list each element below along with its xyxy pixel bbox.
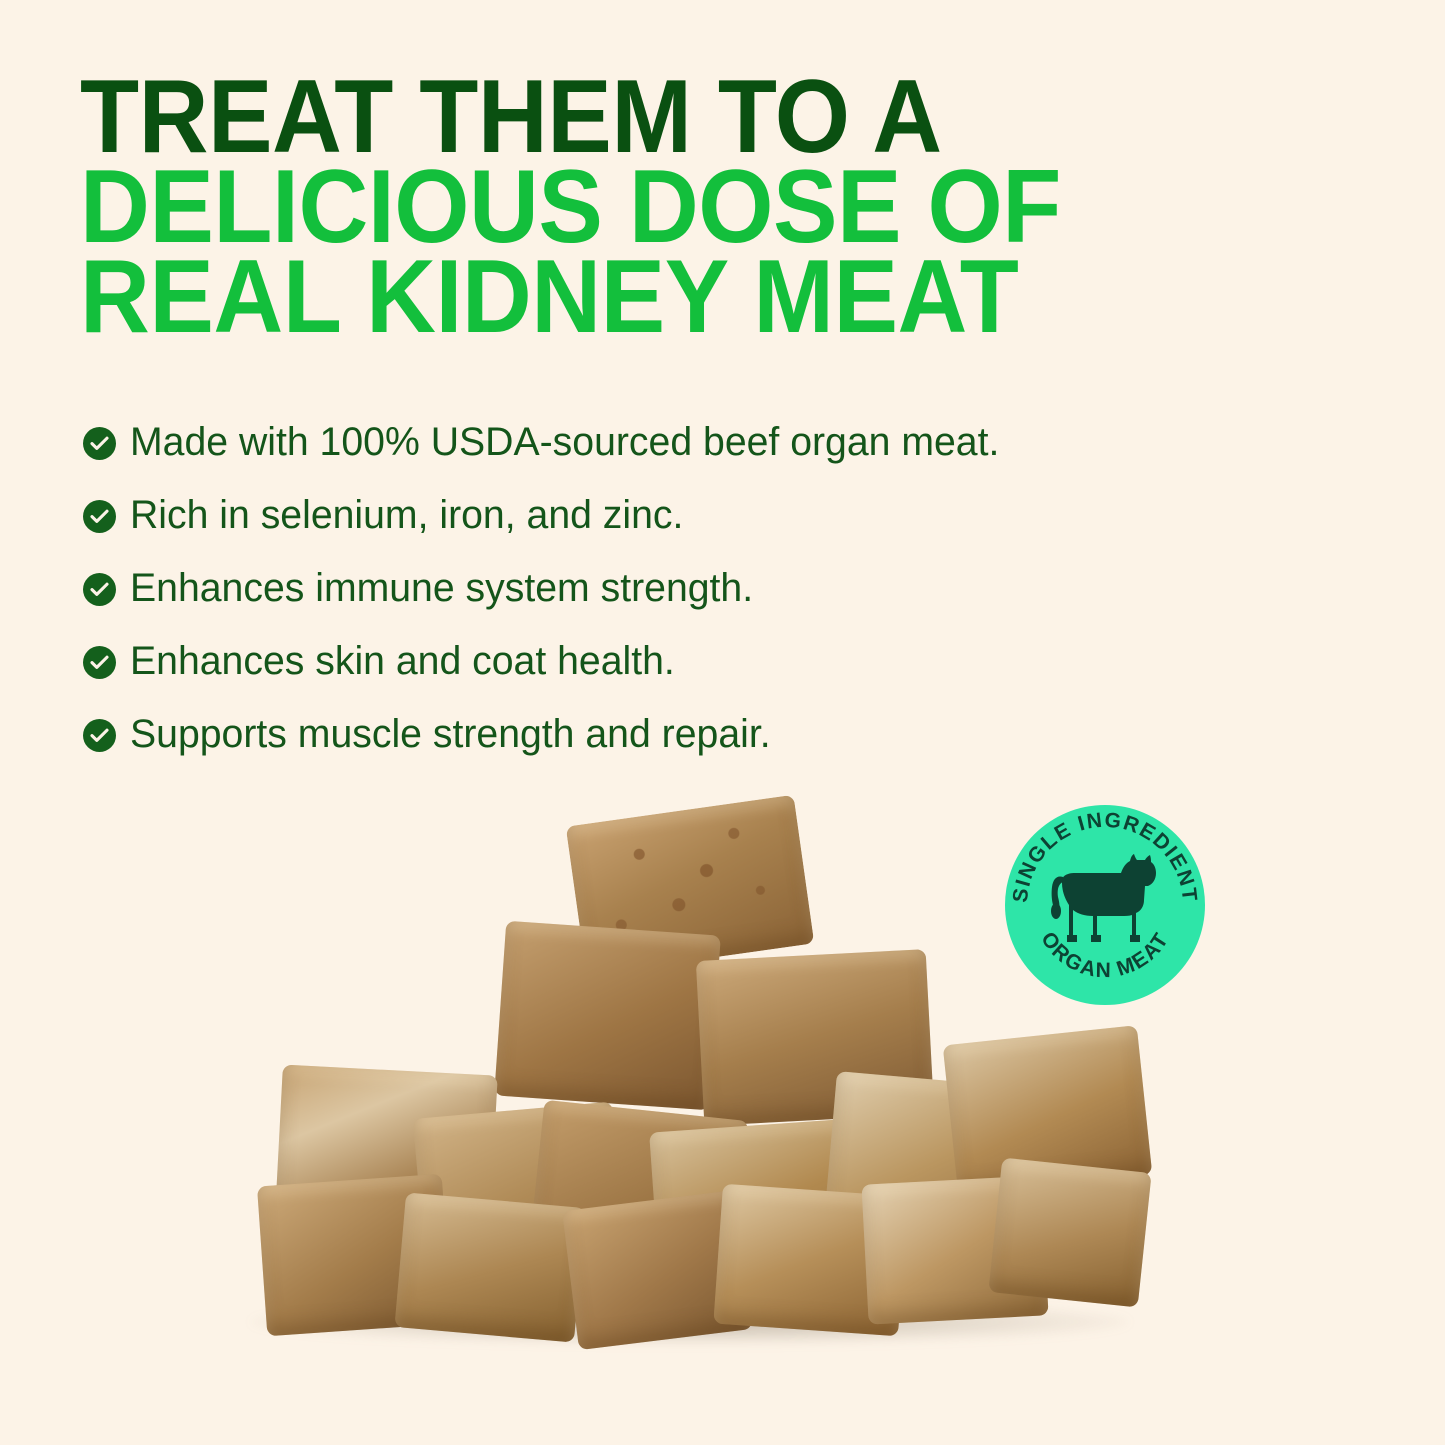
kidney-chunk (988, 1158, 1151, 1308)
benefit-text: Supports muscle strength and repair. (130, 710, 771, 758)
list-item: Made with 100% USDA-sourced beef organ m… (83, 418, 1133, 491)
kidney-chunk (394, 1192, 585, 1342)
cow-icon (1051, 854, 1156, 942)
list-item: Rich in selenium, iron, and zinc. (83, 491, 1133, 564)
check-circle-icon (83, 646, 116, 679)
product-photo (0, 780, 1445, 1380)
check-circle-icon (83, 719, 116, 752)
marketing-graphic: Treat them to a Delicious dose of Real k… (0, 0, 1445, 1445)
list-item: Enhances skin and coat health. (83, 637, 1133, 710)
single-ingredient-badge: SINGLE INGREDIENT ORGAN MEAT (1005, 805, 1205, 1005)
headline-line-3: Real kidney meat (80, 252, 1122, 342)
list-item: Enhances immune system strength. (83, 564, 1133, 637)
check-circle-icon (83, 500, 116, 533)
benefits-list: Made with 100% USDA-sourced beef organ m… (83, 418, 1133, 783)
check-circle-icon (83, 427, 116, 460)
benefit-text: Rich in selenium, iron, and zinc. (130, 491, 683, 539)
badge-bottom-text: ORGAN MEAT (1036, 928, 1173, 982)
benefit-text: Enhances skin and coat health. (130, 637, 675, 685)
kidney-chunk (494, 921, 721, 1111)
benefit-text: Enhances immune system strength. (130, 564, 753, 612)
list-item: Supports muscle strength and repair. (83, 710, 1133, 783)
check-circle-icon (83, 573, 116, 606)
benefit-text: Made with 100% USDA-sourced beef organ m… (130, 418, 999, 466)
headline-block: Treat them to a Delicious dose of Real k… (80, 72, 1200, 342)
badge-artwork: SINGLE INGREDIENT ORGAN MEAT (1005, 805, 1205, 1005)
